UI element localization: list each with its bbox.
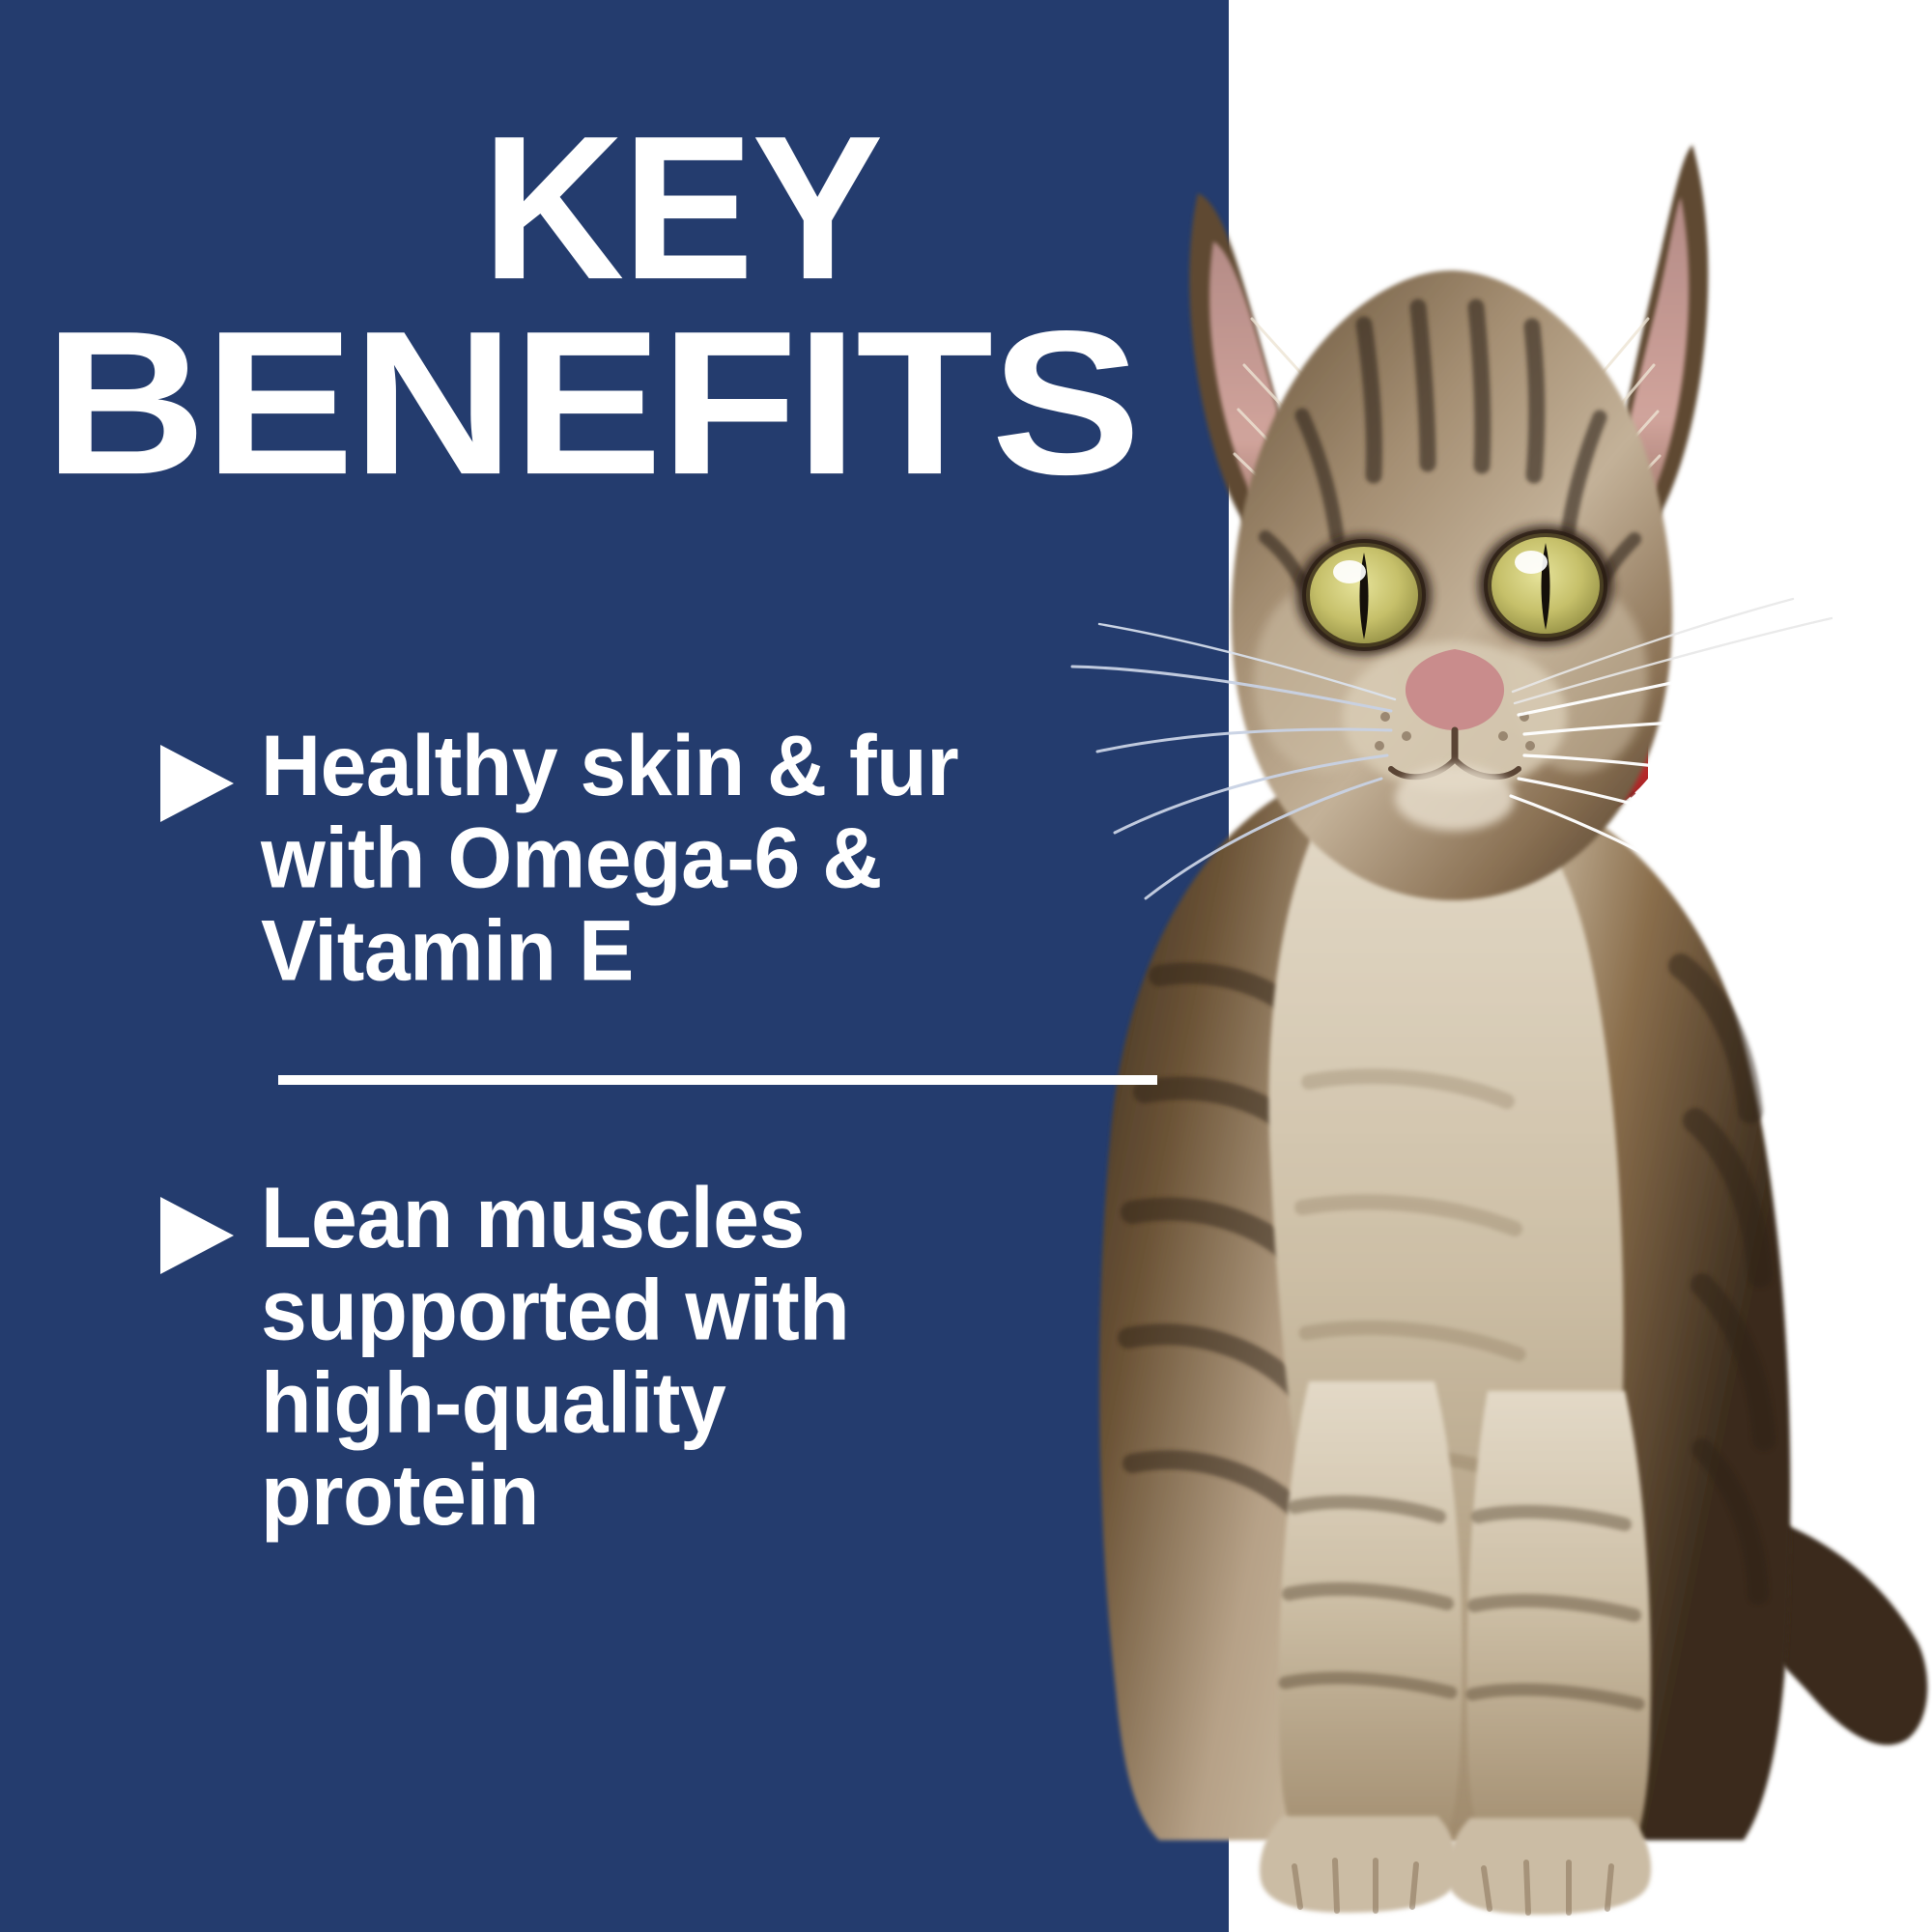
title-line-benefits: BENEFITS bbox=[0, 314, 1159, 495]
benefit-text-2: Lean muscles supported with high-quality… bbox=[261, 1172, 1005, 1542]
benefits-divider bbox=[278, 1075, 1157, 1085]
triangle-right-icon bbox=[160, 745, 234, 822]
key-benefits-banner: KEY BENEFITS Healthy skin & fur with Ome… bbox=[0, 0, 1932, 1932]
cat-eye-left bbox=[1296, 535, 1432, 655]
divider-line bbox=[278, 1075, 1157, 1085]
cat-front-leg-left bbox=[1279, 1381, 1463, 1860]
cat-front-leg-right bbox=[1466, 1391, 1650, 1862]
benefit-text-1: Healthy skin & fur with Omega-6 & Vitami… bbox=[261, 720, 1005, 997]
title-line-key: KEY bbox=[0, 119, 1159, 299]
triangle-right-icon bbox=[160, 1197, 234, 1274]
benefit-item-2: Lean muscles supported with high-quality… bbox=[0, 1172, 1229, 1527]
benefit-item-1: Healthy skin & fur with Omega-6 & Vitami… bbox=[0, 720, 1229, 986]
cat-paw-right bbox=[1447, 1818, 1651, 1915]
cat-paw-left bbox=[1260, 1816, 1458, 1913]
page-title: KEY BENEFITS bbox=[0, 124, 1159, 489]
cat-eye-right bbox=[1478, 526, 1613, 645]
benefits-list: Healthy skin & fur with Omega-6 & Vitami… bbox=[0, 720, 1229, 1527]
